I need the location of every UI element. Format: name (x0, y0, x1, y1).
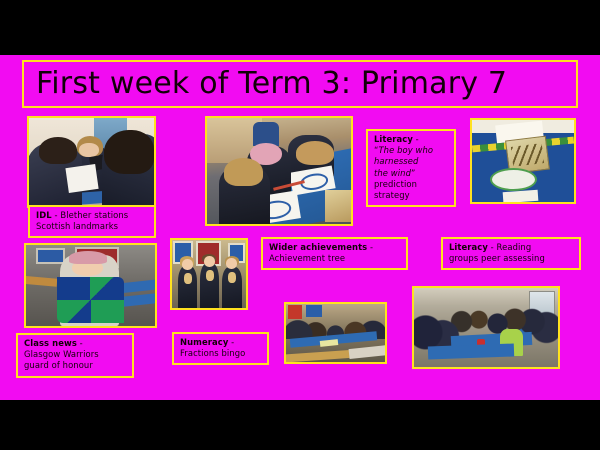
caption-run: - (413, 134, 419, 144)
caption-run: Achievement tree (269, 253, 345, 263)
page-title: First week of Term 3: Primary 7 (36, 69, 507, 99)
caption-class-news: Class news -Glasgow Warriorsguard of hon… (16, 333, 134, 378)
caption-line: groups peer assessing (449, 253, 574, 264)
photo-literacy-writing (205, 116, 353, 226)
caption-run: Fractions bingo (180, 348, 245, 358)
caption-run: IDL (36, 210, 52, 220)
caption-run: - Reading (488, 242, 531, 252)
caption-run: Class news (24, 338, 77, 348)
caption-line: “The boy who (374, 145, 449, 156)
caption-run: groups peer assessing (449, 253, 545, 263)
caption-literacy-reading: Literacy - Readinggroups peer assessing (441, 237, 581, 270)
caption-run: Literacy (374, 134, 413, 144)
caption-line: Scottish landmarks (36, 221, 149, 232)
caption-run: Glasgow Warriors (24, 349, 99, 359)
caption-literacy-prediction: Literacy -“The boy whoharnessedthe wind”… (366, 129, 456, 207)
caption-run: the wind (374, 168, 411, 178)
slide-viewer: First week of Term 3: Primary 7 (0, 0, 600, 450)
caption-numeracy: Numeracy -Fractions bingo (172, 332, 269, 365)
caption-line: Numeracy - (180, 337, 262, 348)
caption-line: Achievement tree (269, 253, 401, 264)
caption-run: The boy who (378, 145, 433, 155)
caption-line: strategy (374, 190, 449, 201)
caption-run: ” (411, 168, 415, 178)
caption-line: Literacy - Reading (449, 242, 574, 253)
caption-run: - (77, 338, 83, 348)
caption-run: Numeracy (180, 337, 228, 347)
caption-wider-achievements: Wider achievements -Achievement tree (261, 237, 408, 270)
caption-run: - (228, 337, 234, 347)
caption-line: Literacy - (374, 134, 449, 145)
caption-line: guard of honour (24, 360, 127, 371)
caption-run: prediction (374, 179, 417, 189)
presentation-slide: First week of Term 3: Primary 7 (0, 55, 600, 400)
caption-run: Literacy (449, 242, 488, 252)
caption-run: - (367, 242, 373, 252)
caption-line: prediction (374, 179, 449, 190)
caption-line: Class news - (24, 338, 127, 349)
photo-idl-blether-stations (27, 116, 156, 208)
photo-fractions-bingo (284, 302, 387, 364)
photo-reading-groups (412, 286, 560, 369)
caption-run: Scottish landmarks (36, 221, 118, 231)
caption-line: Fractions bingo (180, 348, 262, 359)
caption-line: IDL - Blether stations (36, 210, 149, 221)
caption-run: Wider achievements (269, 242, 367, 252)
photo-achievement-tree (170, 238, 248, 310)
caption-run: harnessed (374, 156, 418, 166)
caption-run: guard of honour (24, 360, 93, 370)
photo-literacy-book-desk (470, 118, 576, 204)
caption-run: - Blether stations (52, 210, 129, 220)
photo-glasgow-warriors-jersey (24, 243, 157, 328)
caption-line: the wind” (374, 168, 449, 179)
slide-title-box: First week of Term 3: Primary 7 (22, 60, 578, 108)
caption-idl: IDL - Blether stationsScottish landmarks (28, 205, 156, 238)
caption-run: strategy (374, 190, 410, 200)
caption-line: harnessed (374, 156, 449, 167)
caption-line: Wider achievements - (269, 242, 401, 253)
caption-line: Glasgow Warriors (24, 349, 127, 360)
